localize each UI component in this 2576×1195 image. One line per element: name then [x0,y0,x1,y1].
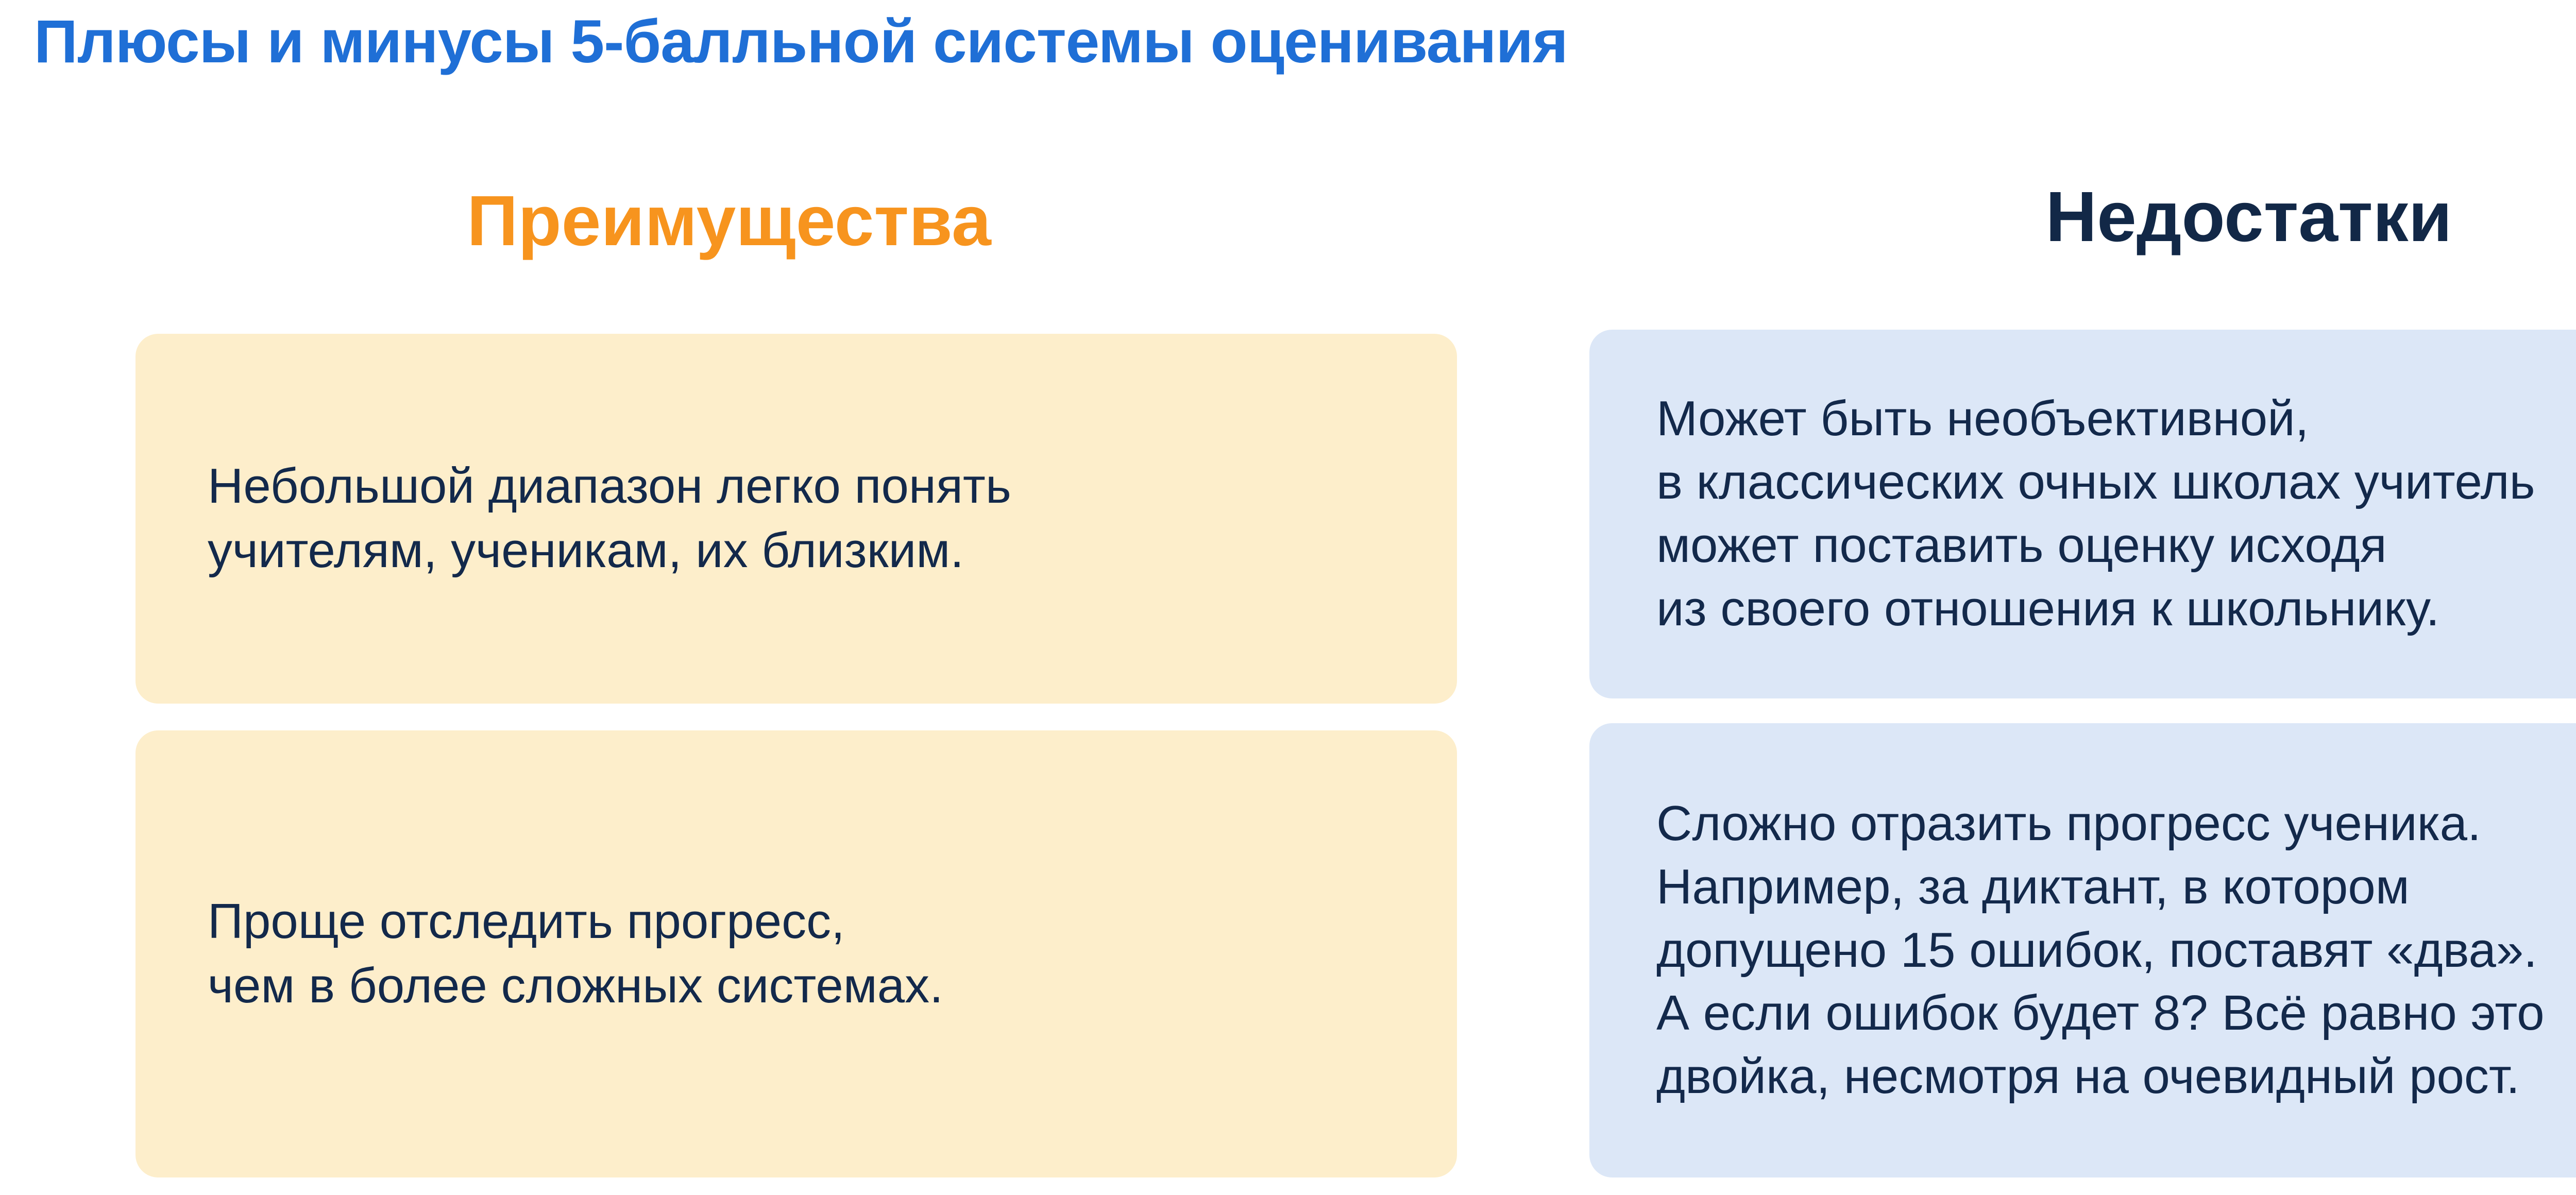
disadvantages-column-heading: Недостатки [1589,181,2576,252]
advantages-column-heading: Преимущества [0,185,1458,257]
disadvantage-card: Может быть необъективной, в классических… [1589,330,2576,698]
advantage-card: Проще отследить прогресс, чем в более сл… [135,730,1457,1177]
disadvantage-card-text: Сложно отразить прогресс ученика. Наприм… [1656,792,2576,1108]
advantage-card-text: Небольшой диапазон легко понять учителям… [208,454,1385,583]
advantage-card-text: Проще отследить прогресс, чем в более сл… [208,890,1385,1018]
disadvantage-card: Сложно отразить прогресс ученика. Наприм… [1589,723,2576,1177]
disadvantage-card-text: Может быть необъективной, в классических… [1656,387,2576,641]
advantage-card: Небольшой диапазон легко понять учителям… [135,334,1457,704]
page-title: Плюсы и минусы 5-балльной системы оценив… [34,7,1568,77]
